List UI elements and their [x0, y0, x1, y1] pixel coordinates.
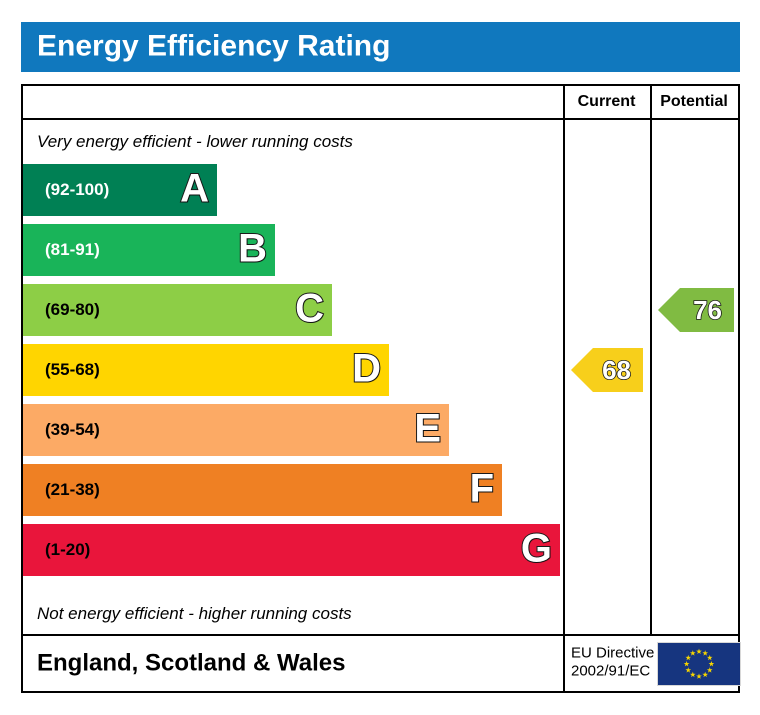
band-letter: A: [180, 168, 209, 208]
energy-efficiency-certificate: Energy Efficiency Rating Current Potenti…: [0, 0, 760, 715]
directive-line-2: 2002/91/EC: [571, 663, 654, 682]
band-range-label: (92-100): [45, 180, 109, 200]
rating-band-f: (21-38)F: [23, 464, 502, 516]
chart-title-bar: Energy Efficiency Rating: [21, 22, 740, 72]
footer-divider: [563, 636, 565, 691]
rating-band-c: (69-80)C: [23, 284, 332, 336]
band-range-label: (81-91): [45, 240, 100, 260]
caption-inefficient: Not energy efficient - higher running co…: [37, 604, 352, 624]
band-letter: G: [521, 528, 552, 568]
rating-band-g: (1-20)G: [23, 524, 560, 576]
band-letter: D: [352, 348, 381, 388]
eu-flag-icon: [657, 642, 741, 686]
body-divider-potential: [650, 120, 652, 634]
band-range-label: (55-68): [45, 360, 100, 380]
band-range-label: (69-80): [45, 300, 100, 320]
table-header-row: Current Potential: [23, 86, 738, 120]
band-letter: C: [295, 288, 324, 328]
rating-table: Current Potential Very energy efficient …: [21, 84, 740, 636]
column-header-potential: Potential: [650, 93, 738, 111]
footer-directive-label: EU Directive 2002/91/EC: [571, 644, 654, 682]
rating-band-e: (39-54)E: [23, 404, 449, 456]
potential-rating-value: 76: [693, 297, 722, 323]
table-body: Very energy efficient - lower running co…: [23, 120, 738, 634]
body-divider-current: [563, 120, 565, 634]
certificate-footer: England, Scotland & Wales EU Directive 2…: [21, 636, 740, 693]
band-letter: B: [238, 228, 267, 268]
column-header-current: Current: [563, 93, 650, 111]
current-rating-value: 68: [602, 357, 631, 383]
directive-line-1: EU Directive: [571, 644, 654, 663]
rating-band-b: (81-91)B: [23, 224, 275, 276]
rating-band-a: (92-100)A: [23, 164, 217, 216]
rating-bars: (92-100)A(81-91)B(69-80)C(55-68)D(39-54)…: [23, 164, 563, 598]
rating-band-d: (55-68)D: [23, 344, 389, 396]
band-range-label: (39-54): [45, 420, 100, 440]
band-range-label: (21-38): [45, 480, 100, 500]
caption-efficient: Very energy efficient - lower running co…: [37, 132, 353, 152]
potential-rating-marker: 76: [658, 288, 734, 332]
band-letter: F: [470, 468, 494, 508]
page-title: Energy Efficiency Rating: [37, 29, 390, 63]
band-letter: E: [414, 408, 441, 448]
current-rating-marker: 68: [571, 348, 643, 392]
footer-region-label: England, Scotland & Wales: [37, 649, 345, 677]
band-range-label: (1-20): [45, 540, 90, 560]
